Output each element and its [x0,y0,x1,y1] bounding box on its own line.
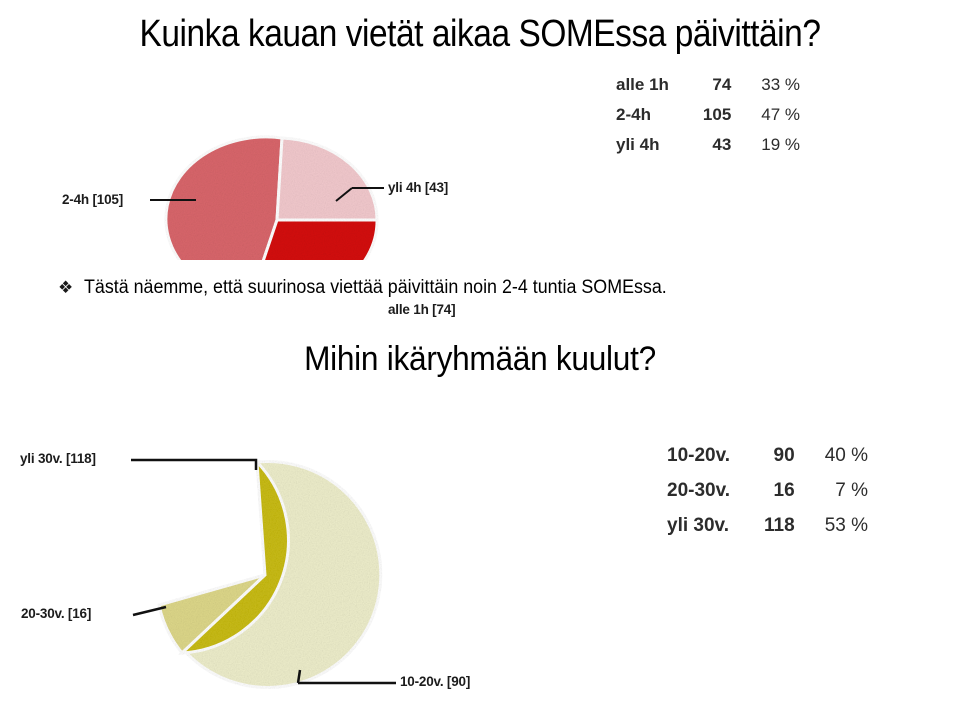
table-1-row-1-count: 105 [703,100,761,130]
table-1-row-2-label: yli 4h [616,130,703,160]
bullet-point-text: Tästä näemme, että suurinosa viettää päi… [84,276,667,300]
pie-2-slices [159,461,381,687]
table-row: alle 1h 74 33 % [616,70,800,100]
table-2-row-0-pct: 40 % [825,438,868,473]
table-1-body: alle 1h 74 33 % 2-4h 105 47 % yli 4h 43 … [616,70,800,160]
pie-1-slice-2-4h [166,137,282,260]
table-2-row-2-pct: 53 % [825,508,868,543]
table-row: yli 30v. 118 53 % [667,508,868,543]
table-2-row-1-pct: 7 % [825,473,868,508]
table-1-row-0-count: 74 [703,70,761,100]
section-title-age-group: Mihin ikäryhmään kuulut? [34,338,927,380]
data-table-age-group: 10-20v. 90 40 % 20-30v. 16 7 % yli 30v. … [667,438,868,543]
table-row: 20-30v. 16 7 % [667,473,868,508]
page-title: Kuinka kauan vietät aikaa SOMEssa päivit… [58,12,903,56]
pie-1-label-yli-4h: yli 4h [43] [388,180,448,195]
pie-2-label-yli-30v: yli 30v. [118] [20,451,96,466]
table-1-row-1-label: 2-4h [616,100,703,130]
pie-2-label-10-20v: 10-20v. [90] [400,674,470,689]
pie-chart-age-group: yli 30v. [118] 20-30v. [16] 10-20v. [90] [0,420,540,720]
pie-1-slice-yli-4h [277,138,377,220]
table-row: 2-4h 105 47 % [616,100,800,130]
table-2-row-2-count: 118 [764,508,825,543]
pie-1-label-2-4h: 2-4h [105] [62,192,123,207]
pie-1-label-alle-1h: alle 1h [74] [388,302,455,317]
table-2-row-2-label: yli 30v. [667,508,764,543]
table-row: yli 4h 43 19 % [616,130,800,160]
table-1-row-0-label: alle 1h [616,70,703,100]
table-2-row-1-label: 20-30v. [667,473,764,508]
table-1-row-2-pct: 19 % [761,130,800,160]
pie-chart-1-graphic [0,70,540,260]
table-2-row-1-count: 16 [764,473,825,508]
data-table-some-usage: alle 1h 74 33 % 2-4h 105 47 % yli 4h 43 … [616,70,800,160]
table-1-row-0-pct: 33 % [761,70,800,100]
table-2-body: 10-20v. 90 40 % 20-30v. 16 7 % yli 30v. … [667,438,868,543]
table-2-row-0-label: 10-20v. [667,438,764,473]
bullet-point-row: ❖ Tästä näemme, että suurinosa viettää p… [58,276,704,300]
table-2-row-0-count: 90 [764,438,825,473]
table-1-row-1-pct: 47 % [761,100,800,130]
diamond-bullet-icon: ❖ [58,277,73,299]
table-1-row-2-count: 43 [703,130,761,160]
pie-1-slices [166,137,377,260]
table-row: 10-20v. 90 40 % [667,438,868,473]
pie-2-label-20-30v: 20-30v. [16] [21,606,91,621]
pie-chart-some-usage: 2-4h [105] yli 4h [43] alle 1h [74] [0,70,540,260]
